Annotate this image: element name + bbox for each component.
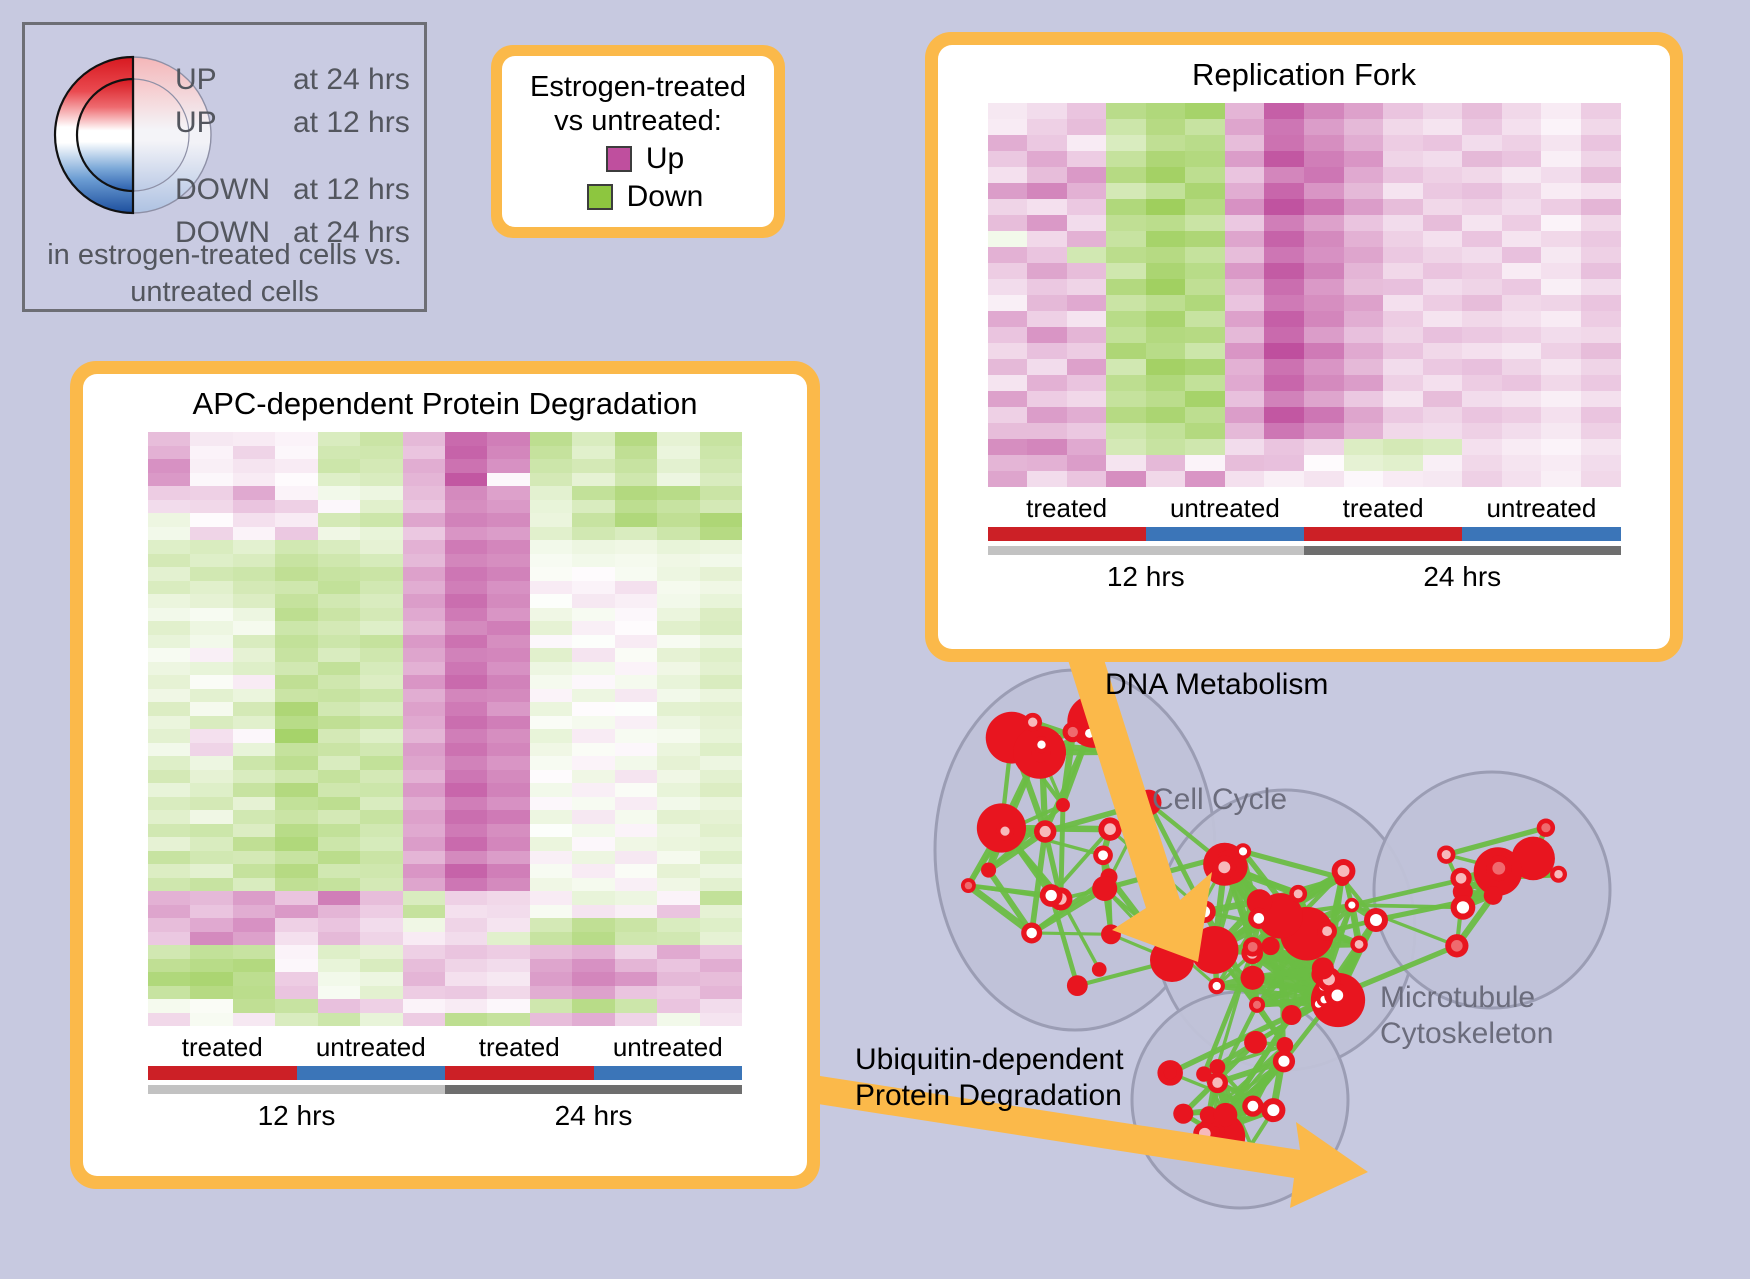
network-node[interactable] bbox=[1243, 937, 1263, 957]
network-node[interactable] bbox=[1098, 817, 1121, 840]
heatmap-cell bbox=[1185, 167, 1225, 183]
heatmap-cell bbox=[1502, 135, 1542, 151]
network-node[interactable] bbox=[1212, 856, 1236, 880]
heatmap-cell bbox=[530, 635, 572, 649]
network-node[interactable] bbox=[1248, 908, 1269, 929]
heatmap-cell bbox=[403, 918, 445, 932]
heatmap-cell bbox=[1502, 263, 1542, 279]
heatmap-cell bbox=[1185, 263, 1225, 279]
heatmap-cell bbox=[1027, 295, 1067, 311]
heatmap-cell bbox=[148, 648, 190, 662]
heatmap-cell bbox=[1383, 215, 1423, 231]
heatmap-cell bbox=[1502, 151, 1542, 167]
heatmap-cell bbox=[233, 918, 275, 932]
heatmap-cell bbox=[318, 945, 360, 959]
heatmap-cell bbox=[1185, 391, 1225, 407]
heatmap-cell bbox=[572, 770, 614, 784]
heatmap-cell bbox=[1146, 359, 1186, 375]
heatmap-cell bbox=[233, 527, 275, 541]
network-node[interactable] bbox=[1437, 845, 1455, 863]
heatmap-cell bbox=[700, 446, 742, 460]
network-node[interactable] bbox=[1484, 886, 1503, 905]
heatmap-cell bbox=[403, 594, 445, 608]
network-node[interactable] bbox=[1214, 1103, 1238, 1127]
network-node[interactable] bbox=[1191, 926, 1239, 974]
heatmap-cell bbox=[233, 783, 275, 797]
heatmap-cell bbox=[1383, 279, 1423, 295]
heatmap-cell bbox=[487, 959, 529, 973]
network-node[interactable] bbox=[1242, 1095, 1263, 1116]
heatmap-cell bbox=[1185, 343, 1225, 359]
heatmap-cell bbox=[318, 648, 360, 662]
heatmap-cell bbox=[1581, 231, 1621, 247]
heatmap-cell bbox=[403, 702, 445, 716]
heatmap-cell bbox=[1344, 343, 1384, 359]
heatmap-cell bbox=[657, 608, 699, 622]
heatmap-cell bbox=[190, 500, 232, 514]
key-row-up-12: UP at 12 hrs bbox=[175, 106, 425, 149]
heatmap-cell bbox=[445, 864, 487, 878]
heatmap-cell bbox=[403, 864, 445, 878]
heatmap-cell bbox=[487, 702, 529, 716]
heatmap-cell bbox=[988, 247, 1028, 263]
heatmap-cell bbox=[1185, 311, 1225, 327]
network-node[interactable] bbox=[1445, 934, 1468, 957]
heatmap-cell bbox=[1027, 263, 1067, 279]
heatmap-cell bbox=[615, 500, 657, 514]
heatmap-cell bbox=[1502, 327, 1542, 343]
heatmap-cell bbox=[148, 635, 190, 649]
network-node[interactable] bbox=[1451, 895, 1476, 920]
heatmap-cell bbox=[1423, 167, 1463, 183]
heatmap-cell bbox=[190, 567, 232, 581]
network-node[interactable] bbox=[1235, 843, 1251, 859]
heatmap-cell bbox=[403, 554, 445, 568]
heatmap-cell bbox=[657, 864, 699, 878]
heatmap-cell bbox=[657, 432, 699, 446]
network-node[interactable] bbox=[1332, 859, 1356, 883]
heatmap-cell bbox=[1541, 279, 1581, 295]
network-node[interactable] bbox=[1273, 1050, 1295, 1072]
heatmap-cell bbox=[572, 932, 614, 946]
heatmap-cell bbox=[657, 486, 699, 500]
heatmap-cell bbox=[1344, 423, 1384, 439]
heatmap-cell bbox=[190, 972, 232, 986]
heatmap-cell bbox=[1264, 311, 1304, 327]
heatmap-cell bbox=[1106, 407, 1146, 423]
network-node[interactable] bbox=[1289, 885, 1307, 903]
network-node[interactable] bbox=[1081, 724, 1099, 742]
heatmap-cell bbox=[1264, 199, 1304, 215]
heatmap-cell bbox=[615, 783, 657, 797]
heatmap-cell bbox=[615, 756, 657, 770]
heatmap-cell bbox=[148, 527, 190, 541]
heatmap-cell bbox=[275, 905, 317, 919]
heatmap-cell bbox=[1146, 167, 1186, 183]
heatmap-cell bbox=[700, 972, 742, 986]
bar-time-24 bbox=[1304, 546, 1621, 555]
heatmap-cell bbox=[615, 432, 657, 446]
heatmap-cell bbox=[615, 635, 657, 649]
heatmap-cell bbox=[275, 999, 317, 1013]
heatmap-cell bbox=[318, 729, 360, 743]
axis-label-untreated-24: untreated bbox=[594, 1026, 743, 1066]
heatmap-cell bbox=[233, 662, 275, 676]
heatmap-cell bbox=[1462, 375, 1502, 391]
network-node[interactable] bbox=[1173, 1104, 1193, 1124]
network-node[interactable] bbox=[1093, 845, 1113, 865]
heatmap-cell bbox=[318, 554, 360, 568]
network-node[interactable] bbox=[1364, 908, 1388, 932]
network-node[interactable] bbox=[1450, 868, 1471, 889]
heatmap-cell bbox=[1027, 199, 1067, 215]
network-node[interactable] bbox=[1248, 1150, 1267, 1169]
heatmap-cell bbox=[190, 756, 232, 770]
heatmap-cell bbox=[190, 662, 232, 676]
heatmap-cell bbox=[1344, 407, 1384, 423]
network-node[interactable] bbox=[1241, 966, 1265, 990]
heatmap-cell bbox=[318, 959, 360, 973]
network-node[interactable] bbox=[1312, 957, 1334, 979]
heatmap-cell bbox=[360, 837, 402, 851]
heatmap-cell bbox=[700, 648, 742, 662]
heatmap-cell bbox=[403, 824, 445, 838]
heatmap-cell bbox=[1502, 343, 1542, 359]
heatmap-cell bbox=[572, 837, 614, 851]
heatmap-cell bbox=[360, 945, 402, 959]
heatmap-cell bbox=[233, 797, 275, 811]
heatmap-cell bbox=[1502, 439, 1542, 455]
network-node[interactable] bbox=[1235, 1151, 1249, 1165]
network-node[interactable] bbox=[1550, 866, 1567, 883]
heatmap-cell bbox=[1383, 183, 1423, 199]
heatmap-cell bbox=[1146, 423, 1186, 439]
heatmap-cell bbox=[275, 783, 317, 797]
network-node[interactable] bbox=[1261, 1098, 1285, 1122]
heatmap-cell bbox=[1106, 247, 1146, 263]
cluster-label-dna-metabolism: DNA Metabolism bbox=[1105, 668, 1328, 702]
network-node[interactable] bbox=[1208, 978, 1225, 995]
network-node[interactable] bbox=[1193, 1122, 1216, 1145]
heatmap-cell bbox=[572, 986, 614, 1000]
heatmap-cell bbox=[360, 513, 402, 527]
heatmap-cell bbox=[1185, 151, 1225, 167]
heatmap-cell bbox=[1106, 439, 1146, 455]
network-node[interactable] bbox=[1034, 820, 1056, 842]
heatmap-cell bbox=[572, 729, 614, 743]
heatmap-cell bbox=[988, 135, 1028, 151]
heatmap-cell bbox=[615, 905, 657, 919]
heatmap-cell bbox=[1185, 455, 1225, 471]
heatmap-cell bbox=[233, 473, 275, 487]
heatmap-cell bbox=[403, 905, 445, 919]
heatmap-cell bbox=[318, 689, 360, 703]
network-node[interactable] bbox=[1023, 713, 1042, 732]
heatmap-cell bbox=[530, 918, 572, 932]
heatmap-cell bbox=[487, 837, 529, 851]
heatmap-cell bbox=[1344, 311, 1384, 327]
network-node[interactable] bbox=[1067, 975, 1088, 996]
heatmap-cell bbox=[530, 500, 572, 514]
heatmap-cell bbox=[1264, 391, 1304, 407]
heatmap-cell bbox=[360, 797, 402, 811]
heatmap-cell bbox=[1304, 231, 1344, 247]
heatmap-cell bbox=[1423, 375, 1463, 391]
heatmap-cell bbox=[615, 486, 657, 500]
network-node[interactable] bbox=[1193, 900, 1216, 923]
network-node[interactable] bbox=[1063, 722, 1084, 743]
heatmap-cell bbox=[445, 473, 487, 487]
heatmap-cell bbox=[1383, 471, 1423, 487]
heatmap-cell bbox=[487, 567, 529, 581]
heatmap-cell bbox=[530, 810, 572, 824]
network-node[interactable] bbox=[1249, 997, 1265, 1013]
heatmap-cell bbox=[403, 527, 445, 541]
network-node[interactable] bbox=[981, 862, 996, 877]
heatmap-cell bbox=[1502, 103, 1542, 119]
heatmap-cell bbox=[275, 648, 317, 662]
network-node[interactable] bbox=[1112, 743, 1128, 759]
heatmap-cell bbox=[1304, 327, 1344, 343]
heatmap-cell bbox=[657, 810, 699, 824]
heatmap-cell bbox=[700, 432, 742, 446]
bar-time-12 bbox=[988, 546, 1305, 555]
heatmap-cell bbox=[1462, 343, 1502, 359]
network-node[interactable] bbox=[1021, 922, 1042, 943]
heatmap-cell bbox=[1304, 407, 1344, 423]
network-node[interactable] bbox=[1092, 876, 1117, 901]
network-node[interactable] bbox=[1282, 1005, 1302, 1025]
heatmap-cell bbox=[148, 1013, 190, 1027]
heatmap-cell bbox=[988, 263, 1028, 279]
heatmap-cell bbox=[1581, 103, 1621, 119]
network-node[interactable] bbox=[1345, 898, 1359, 912]
heatmap-cell bbox=[403, 608, 445, 622]
heatmap-cell bbox=[190, 837, 232, 851]
heatmap-cell bbox=[275, 608, 317, 622]
heatmap-cell bbox=[1541, 439, 1581, 455]
heatmap-cell bbox=[657, 756, 699, 770]
heatmap-cell bbox=[190, 432, 232, 446]
heatmap-cell bbox=[318, 432, 360, 446]
heatmap-cell bbox=[148, 837, 190, 851]
heatmap-cell bbox=[1067, 215, 1107, 231]
network-node[interactable] bbox=[1317, 921, 1337, 941]
heatmap-cell bbox=[700, 581, 742, 595]
color-key-caption: in estrogen-treated cells vs. untreated … bbox=[25, 237, 424, 310]
heatmap-cell bbox=[1264, 215, 1304, 231]
heatmap-cell bbox=[700, 999, 742, 1013]
heatmap-cell bbox=[700, 675, 742, 689]
heatmap-cell bbox=[572, 756, 614, 770]
heatmap-cell bbox=[487, 824, 529, 838]
heatmap-cell bbox=[1264, 183, 1304, 199]
heatmap-cell bbox=[487, 432, 529, 446]
heatmap-cell bbox=[700, 905, 742, 919]
heatmap-cell bbox=[988, 359, 1028, 375]
heatmap-cell bbox=[1146, 391, 1186, 407]
heatmap-cell bbox=[1581, 343, 1621, 359]
heatmap-cell bbox=[1264, 343, 1304, 359]
heatmap-cell bbox=[487, 918, 529, 932]
heatmap-cell bbox=[233, 446, 275, 460]
heatmap-cell bbox=[657, 459, 699, 473]
heatmap-cell bbox=[1185, 375, 1225, 391]
heatmap-cell bbox=[530, 662, 572, 676]
heatmap-cell bbox=[530, 891, 572, 905]
heatmap-cell bbox=[1225, 103, 1265, 119]
heatmap-cell bbox=[1502, 167, 1542, 183]
heatmap-cell bbox=[403, 581, 445, 595]
heatmap-cell bbox=[572, 446, 614, 460]
network-node[interactable] bbox=[1157, 1060, 1183, 1086]
heatmap-cell bbox=[318, 567, 360, 581]
heatmap-cell bbox=[700, 689, 742, 703]
heatmap-cell bbox=[1344, 199, 1384, 215]
heatmap-cell bbox=[360, 500, 402, 514]
heatmap-cell bbox=[233, 932, 275, 946]
heatmap-cell bbox=[1146, 375, 1186, 391]
heatmap-cell bbox=[275, 986, 317, 1000]
heatmap-cell bbox=[615, 702, 657, 716]
heatmap-cell bbox=[700, 527, 742, 541]
heatmap-cell bbox=[1462, 391, 1502, 407]
heatmap-cell bbox=[1067, 471, 1107, 487]
heatmap-cell bbox=[988, 103, 1028, 119]
heatmap-cell bbox=[1462, 423, 1502, 439]
heatmap-cell bbox=[1423, 439, 1463, 455]
heatmap-cell bbox=[1185, 407, 1225, 423]
heatmap-cell bbox=[318, 999, 360, 1013]
heatmap-cell bbox=[403, 567, 445, 581]
heatmap-cell bbox=[1462, 103, 1502, 119]
heatmap-cell bbox=[1383, 135, 1423, 151]
heatmap-cell bbox=[615, 1013, 657, 1027]
heatmap-cell bbox=[615, 851, 657, 865]
key-spacer bbox=[175, 149, 425, 173]
heatmap-cell bbox=[403, 986, 445, 1000]
heatmap-cell bbox=[148, 891, 190, 905]
heatmap-cell bbox=[445, 702, 487, 716]
heatmap-cell bbox=[615, 473, 657, 487]
heatmap-cell bbox=[1106, 455, 1146, 471]
network-node[interactable] bbox=[961, 878, 976, 893]
heatmap-cell bbox=[445, 540, 487, 554]
network-node[interactable] bbox=[1033, 736, 1050, 753]
heatmap-cell bbox=[360, 743, 402, 757]
heatmap-cell bbox=[318, 756, 360, 770]
heatmap-cell bbox=[403, 473, 445, 487]
heatmap-cell bbox=[1027, 103, 1067, 119]
network-node[interactable] bbox=[1101, 924, 1121, 944]
network-node[interactable] bbox=[1537, 819, 1555, 837]
network-node[interactable] bbox=[1040, 884, 1063, 907]
heatmap-cell bbox=[487, 945, 529, 959]
axis-label-treated-24: treated bbox=[445, 1026, 594, 1066]
heatmap-cell bbox=[233, 945, 275, 959]
network-node[interactable] bbox=[1207, 1072, 1228, 1093]
heatmap-cell bbox=[1027, 439, 1067, 455]
heatmap-cell bbox=[1423, 151, 1463, 167]
heatmap-cell bbox=[360, 729, 402, 743]
heatmap-cell bbox=[1264, 167, 1304, 183]
heatmap-cell bbox=[1581, 295, 1621, 311]
heatmap-cell bbox=[403, 837, 445, 851]
heatmap-cell bbox=[615, 716, 657, 730]
color-key-labels: UP at 24 hrs UP at 12 hrs DOWN at 12 hrs… bbox=[175, 63, 425, 259]
heatmap-cell bbox=[275, 878, 317, 892]
heatmap-cell bbox=[445, 932, 487, 946]
axis-replication-fork: treated untreated treated untreated bbox=[988, 487, 1621, 593]
heatmap-cell bbox=[615, 662, 657, 676]
network-node[interactable] bbox=[1486, 855, 1512, 881]
heatmap-cell bbox=[445, 986, 487, 1000]
network-node[interactable] bbox=[1150, 938, 1194, 982]
heatmap-cell bbox=[1225, 279, 1265, 295]
heatmap-cell bbox=[148, 932, 190, 946]
heatmap-cell bbox=[360, 446, 402, 460]
heatmap-cell bbox=[487, 459, 529, 473]
heatmap-cell bbox=[1304, 119, 1344, 135]
heatmap-cell bbox=[233, 891, 275, 905]
heatmap-cell bbox=[572, 783, 614, 797]
network-node[interactable] bbox=[996, 822, 1014, 840]
heatmap-cell bbox=[233, 986, 275, 1000]
heatmap-cell bbox=[1344, 231, 1384, 247]
heatmap-cell bbox=[572, 702, 614, 716]
network-node[interactable] bbox=[1261, 937, 1279, 955]
heatmap-cell bbox=[148, 594, 190, 608]
heatmap-cell bbox=[275, 729, 317, 743]
heatmap-cell bbox=[445, 972, 487, 986]
heatmap-cell bbox=[403, 675, 445, 689]
heatmap-cell bbox=[1541, 327, 1581, 343]
network-node[interactable] bbox=[1244, 1031, 1267, 1054]
heatmap-cell bbox=[1106, 167, 1146, 183]
heatmap-cell bbox=[1541, 295, 1581, 311]
heatmap-cell bbox=[1423, 215, 1463, 231]
network-node[interactable] bbox=[1092, 962, 1107, 977]
heatmap-cell bbox=[360, 648, 402, 662]
heatmap-cell bbox=[615, 810, 657, 824]
heatmap-cell bbox=[1185, 215, 1225, 231]
heatmap-cell bbox=[190, 702, 232, 716]
heatmap-cell bbox=[403, 783, 445, 797]
heatmap-cell bbox=[190, 554, 232, 568]
key-label: DOWN bbox=[175, 173, 293, 207]
heatmap-cell bbox=[190, 689, 232, 703]
heatmap-cell bbox=[1264, 455, 1304, 471]
heatmap-cell bbox=[1225, 359, 1265, 375]
heatmap-cell bbox=[318, 702, 360, 716]
network-node[interactable] bbox=[1326, 984, 1349, 1007]
heatmap-cell bbox=[318, 864, 360, 878]
heatmap-cell bbox=[530, 932, 572, 946]
heatmap-cell bbox=[572, 567, 614, 581]
heatmap-cell bbox=[700, 770, 742, 784]
heatmap-cell bbox=[530, 716, 572, 730]
heatmap-cell bbox=[445, 621, 487, 635]
heatmap-cell bbox=[275, 446, 317, 460]
heatmap-cell bbox=[190, 999, 232, 1013]
network-node[interactable] bbox=[1056, 798, 1070, 812]
heatmap-cell bbox=[1423, 263, 1463, 279]
heatmap-cell bbox=[403, 878, 445, 892]
heatmap-cell bbox=[318, 743, 360, 757]
heatmap-cell bbox=[445, 918, 487, 932]
network-node[interactable] bbox=[1350, 936, 1367, 953]
heatmap-cell bbox=[1541, 359, 1581, 375]
